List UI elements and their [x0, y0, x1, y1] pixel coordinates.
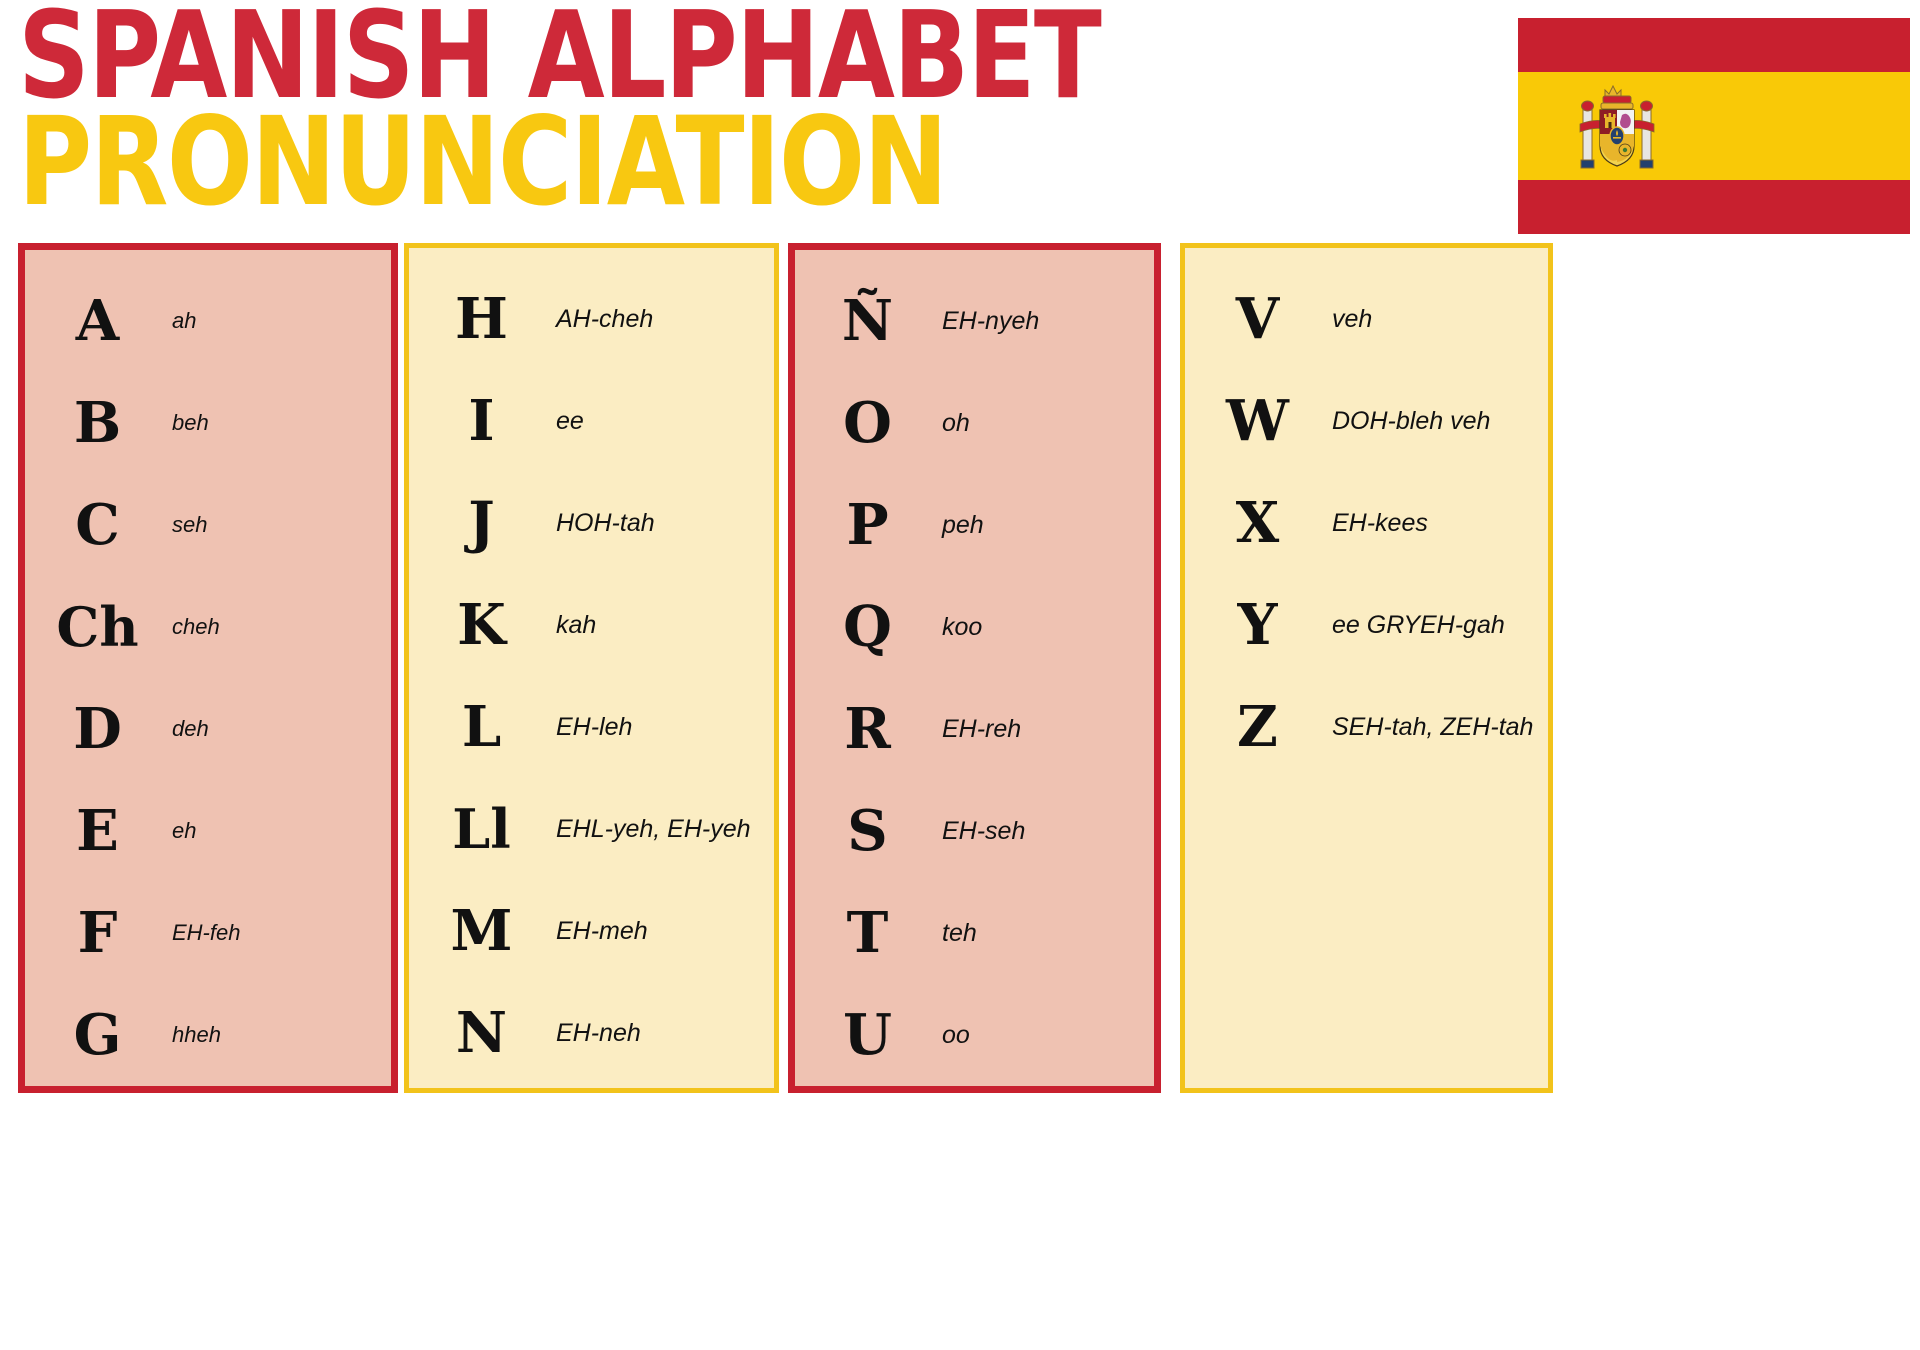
alphabet-row: N EH-neh	[409, 982, 774, 1084]
letter-glyph: M	[409, 903, 554, 959]
letter-glyph: Ñ	[795, 293, 940, 349]
pronunciation-text: cheh	[170, 614, 391, 640]
alphabet-row: G hheh	[25, 984, 391, 1086]
pronunciation-text: kah	[554, 611, 774, 640]
pronunciation-text: HOH-tah	[554, 509, 774, 538]
pronunciation-text: ee GRYEH-gah	[1330, 611, 1548, 640]
alphabet-row: D deh	[25, 678, 391, 780]
letter-glyph: Z	[1185, 699, 1330, 755]
letter-glyph: B	[25, 395, 170, 451]
alphabet-row: Ñ EH-nyeh	[795, 270, 1154, 372]
letter-glyph: G	[25, 1007, 170, 1063]
pronunciation-text: koo	[940, 613, 1154, 642]
pronunciation-text: EHL-yeh, EH-yeh	[554, 815, 774, 844]
title-block: SPANISH ALPHABET PRONUNCIATION	[18, 2, 1322, 219]
alphabet-row: V veh	[1185, 268, 1548, 370]
pronunciation-text: EH-kees	[1330, 509, 1548, 538]
letter-glyph: O	[795, 395, 940, 451]
pronunciation-text: deh	[170, 716, 391, 742]
pronunciation-text: EH-seh	[940, 817, 1154, 846]
letter-glyph: X	[1185, 495, 1330, 551]
page-subtitle: PRONUNCIATION	[18, 106, 1100, 218]
letter-glyph: R	[795, 701, 940, 757]
alphabet-row: C seh	[25, 474, 391, 576]
alphabet-row: Q koo	[795, 576, 1154, 678]
pronunciation-text: teh	[940, 919, 1154, 948]
letter-glyph: F	[25, 905, 170, 961]
pronunciation-text: hheh	[170, 1022, 391, 1048]
pronunciation-text: AH-cheh	[554, 305, 774, 334]
alphabet-row: R EH-reh	[795, 678, 1154, 780]
pronunciation-text: EH-meh	[554, 917, 774, 946]
pronunciation-text: beh	[170, 410, 391, 436]
alphabet-row: S EH-seh	[795, 780, 1154, 882]
alphabet-column-4: V veh W DOH-bleh veh X EH-kees Y ee GRYE…	[1180, 243, 1553, 1093]
alphabet-row: P peh	[795, 474, 1154, 576]
letter-glyph: S	[795, 803, 940, 859]
letter-glyph: T	[795, 905, 940, 961]
pronunciation-text: SEH-tah, ZEH-tah	[1330, 713, 1548, 742]
letter-glyph: V	[1185, 291, 1330, 347]
alphabet-column-3: Ñ EH-nyeh O oh P peh Q koo R EH-reh S EH…	[788, 243, 1161, 1093]
letter-glyph: L	[409, 699, 554, 755]
letter-glyph: Ll	[409, 802, 554, 856]
alphabet-row: J HOH-tah	[409, 472, 774, 574]
alphabet-row: T teh	[795, 882, 1154, 984]
pronunciation-text: ee	[554, 407, 774, 436]
pronunciation-text: EH-neh	[554, 1019, 774, 1048]
alphabet-row: O oh	[795, 372, 1154, 474]
pronunciation-text: EH-leh	[554, 713, 774, 742]
letter-glyph: N	[409, 1005, 554, 1061]
pronunciation-text: oo	[940, 1021, 1154, 1050]
pronunciation-text: oh	[940, 409, 1154, 438]
letter-glyph: I	[409, 393, 554, 449]
alphabet-row: A ah	[25, 270, 391, 372]
alphabet-row: K kah	[409, 574, 774, 676]
page-header: SPANISH ALPHABET PRONUNCIATION	[0, 0, 1920, 240]
alphabet-row: M EH-meh	[409, 880, 774, 982]
spain-flag-icon	[1518, 18, 1910, 234]
pronunciation-text: seh	[170, 512, 391, 538]
letter-glyph: K	[409, 597, 554, 653]
alphabet-row: Ll EHL-yeh, EH-yeh	[409, 778, 774, 880]
alphabet-row: I ee	[409, 370, 774, 472]
alphabet-row: Ch cheh	[25, 576, 391, 678]
coat-of-arms-icon	[1578, 84, 1656, 176]
alphabet-row: Y ee GRYEH-gah	[1185, 574, 1548, 676]
pronunciation-text: ah	[170, 308, 391, 334]
alphabet-row: U oo	[795, 984, 1154, 1086]
letter-glyph: J	[409, 495, 554, 551]
pronunciation-text: eh	[170, 818, 391, 844]
alphabet-row: L EH-leh	[409, 676, 774, 778]
letter-glyph: D	[25, 701, 170, 757]
alphabet-row: X EH-kees	[1185, 472, 1548, 574]
letter-glyph: A	[25, 293, 170, 349]
letter-glyph: W	[1185, 393, 1330, 449]
alphabet-row: Z SEH-tah, ZEH-tah	[1185, 676, 1548, 778]
alphabet-row: W DOH-bleh veh	[1185, 370, 1548, 472]
alphabet-row: B beh	[25, 372, 391, 474]
flag-yellow-stripe	[1518, 72, 1910, 180]
alphabet-column-2: H AH-cheh I ee J HOH-tah K kah L EH-leh …	[404, 243, 779, 1093]
letter-glyph: H	[409, 291, 554, 347]
pronunciation-text: peh	[940, 511, 1154, 540]
pronunciation-text: EH-feh	[170, 920, 391, 946]
pronunciation-text: veh	[1330, 305, 1548, 334]
letter-glyph: C	[25, 497, 170, 553]
alphabet-columns: A ah B beh C seh Ch cheh D deh E eh	[0, 243, 1920, 1350]
letter-glyph: U	[795, 1007, 940, 1063]
letter-glyph: Ch	[25, 600, 170, 654]
alphabet-row: H AH-cheh	[409, 268, 774, 370]
alphabet-column-1: A ah B beh C seh Ch cheh D deh E eh	[18, 243, 398, 1093]
pronunciation-text: DOH-bleh veh	[1330, 407, 1548, 436]
alphabet-row: E eh	[25, 780, 391, 882]
letter-glyph: P	[795, 497, 940, 553]
pronunciation-text: EH-nyeh	[940, 307, 1154, 336]
letter-glyph: E	[25, 803, 170, 859]
letter-glyph: Q	[795, 599, 940, 655]
alphabet-row: F EH-feh	[25, 882, 391, 984]
pronunciation-text: EH-reh	[940, 715, 1154, 744]
letter-glyph: Y	[1185, 597, 1330, 653]
